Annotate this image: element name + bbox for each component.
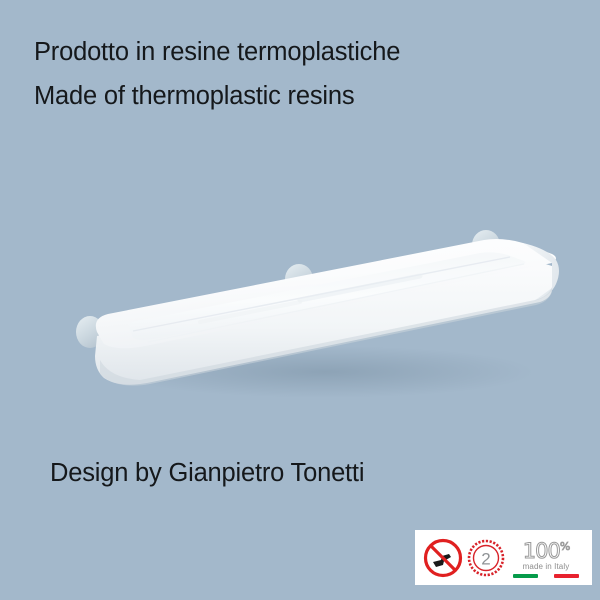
warranty-badge: 2 xyxy=(466,538,506,578)
italy-percent-value: 100 xyxy=(523,539,560,563)
made-in-italy-badge: 100% made in Italy xyxy=(507,536,585,580)
flag-bar-green xyxy=(513,574,538,578)
designer-credit: Design by Gianpietro Tonetti xyxy=(50,459,364,488)
flag-bar-red xyxy=(554,574,579,578)
headline-block: Prodotto in resine termoplastiche Made o… xyxy=(34,30,574,118)
no-drilling-badge xyxy=(422,537,464,579)
italy-percent-line: 100% xyxy=(523,537,570,561)
no-drilling-prohibition-icon xyxy=(422,537,464,579)
italy-caption: made in Italy xyxy=(523,562,570,571)
italy-flag-bars xyxy=(513,574,579,578)
italy-percent-symbol: % xyxy=(560,540,569,553)
certification-badge-strip: 2 100% made in Italy xyxy=(415,530,592,585)
headline-english: Made of thermoplastic resins xyxy=(34,74,574,118)
warranty-seal-icon: 2 xyxy=(466,538,506,578)
product-marketing-image: Prodotto in resine termoplastiche Made o… xyxy=(0,0,600,600)
headline-italian: Prodotto in resine termoplastiche xyxy=(34,30,574,74)
warranty-years-value: 2 xyxy=(481,549,490,568)
